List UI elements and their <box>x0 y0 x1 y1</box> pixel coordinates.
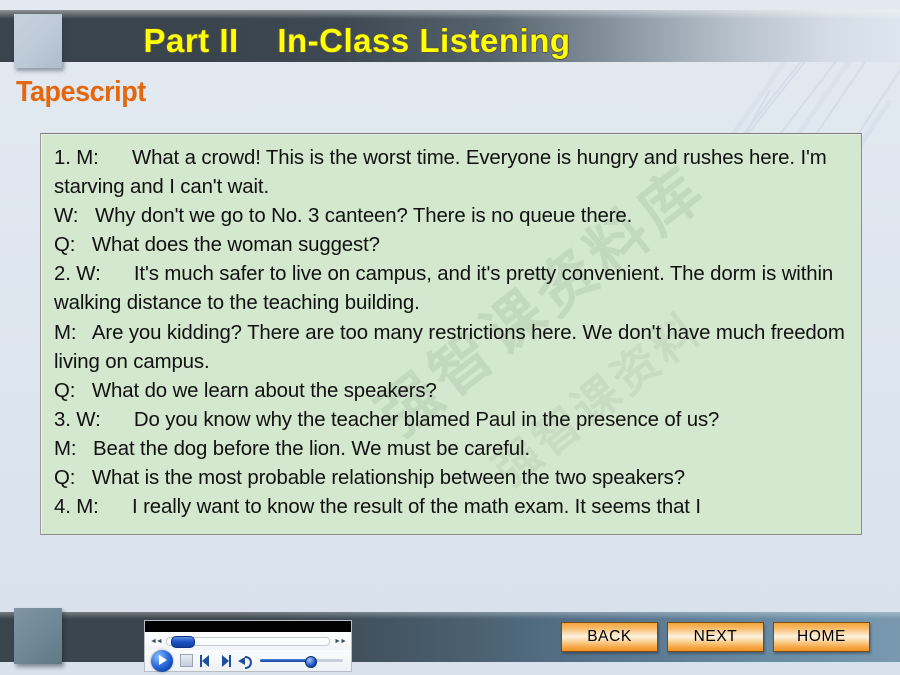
section-heading-tapescript: Tapescript <box>16 76 146 109</box>
media-player[interactable]: ◄◄ ►► <box>144 620 352 672</box>
rewind-icon[interactable]: ◄◄ <box>150 638 162 645</box>
navigation-buttons: BACK NEXT HOME <box>561 622 870 652</box>
media-player-controls-row <box>145 650 351 671</box>
fast-forward-icon[interactable]: ►► <box>334 638 346 645</box>
home-button[interactable]: HOME <box>773 622 870 652</box>
stop-button-icon[interactable] <box>180 654 193 667</box>
media-player-video-area <box>145 621 351 632</box>
transcript-content: 1. M: What a crowd! This is the worst ti… <box>41 133 861 522</box>
footer-bar-highlight <box>0 612 900 619</box>
volume-slider-fill <box>260 659 308 662</box>
volume-slider[interactable] <box>260 659 343 662</box>
slide-canvas: Part II In-Class Listening Tapescript 强智… <box>0 0 900 675</box>
page-title: Part II In-Class Listening <box>0 22 900 60</box>
back-button[interactable]: BACK <box>561 622 658 652</box>
next-button[interactable]: NEXT <box>667 622 764 652</box>
header-banner: Part II In-Class Listening <box>0 10 900 62</box>
seek-slider-thumb[interactable] <box>171 636 195 648</box>
transcript-textbox[interactable]: 强智课资料库 强智课资料 1. M: What a crowd! This is… <box>40 133 862 535</box>
transcript-text: 1. M: What a crowd! This is the worst ti… <box>54 144 851 522</box>
play-button-icon[interactable] <box>151 650 173 672</box>
volume-slider-thumb[interactable] <box>305 656 317 668</box>
seek-slider[interactable] <box>166 637 330 646</box>
header-bar-highlight <box>0 10 900 19</box>
media-player-seek-row: ◄◄ ►► <box>145 633 351 650</box>
next-track-icon[interactable] <box>219 655 231 667</box>
volume-speaker-icon[interactable] <box>238 654 253 667</box>
footer-decoration-block <box>14 608 62 664</box>
previous-track-icon[interactable] <box>200 655 212 667</box>
